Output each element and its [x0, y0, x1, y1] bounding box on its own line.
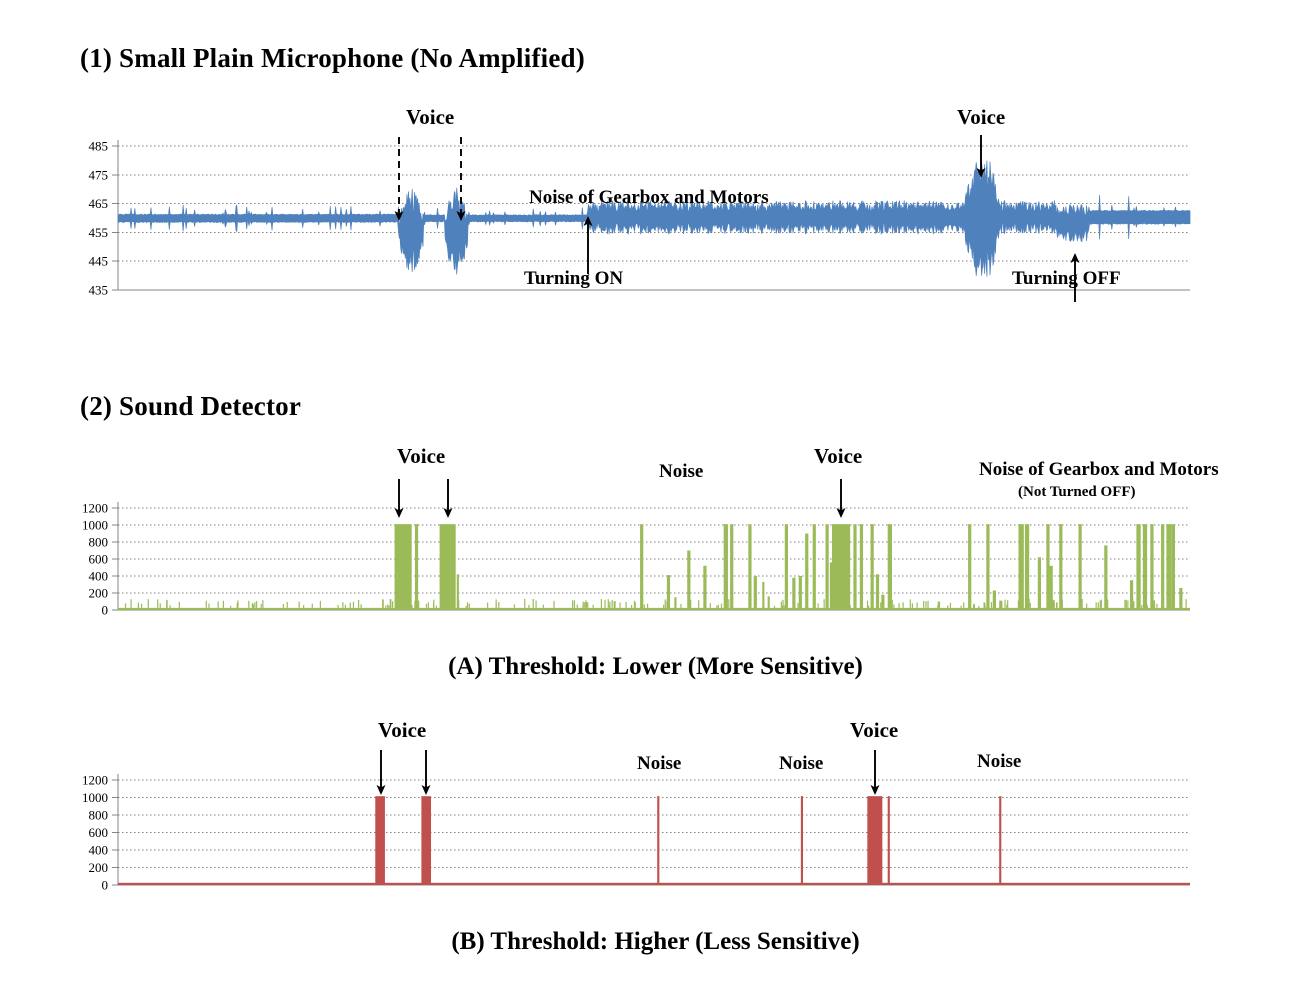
voice-arrow-2 [970, 133, 992, 179]
chart-microphone-block: 485475465455445435 [0, 130, 1311, 330]
caption-threshold-lower: (A) Threshold: Lower (More Sensitive) [0, 653, 1311, 681]
svg-text:445: 445 [89, 254, 109, 269]
voice-arrow-b3 [864, 748, 886, 796]
caption-threshold-higher: (B) Threshold: Higher (Less Sensitive) [0, 928, 1311, 956]
slide-root: (1) Small Plain Microphone (No Amplified… [0, 0, 1311, 984]
svg-text:800: 800 [89, 535, 109, 550]
voice-arrow-a3 [830, 477, 852, 519]
svg-text:1000: 1000 [82, 518, 108, 533]
voice-arrow-a1 [388, 477, 410, 519]
annotation-noise-b1: Noise [637, 753, 681, 775]
svg-text:1000: 1000 [82, 790, 108, 805]
voice-arrow-a2 [437, 477, 459, 519]
turning-off-arrow [1064, 252, 1086, 304]
voice-arrow-b2 [415, 748, 437, 796]
svg-text:600: 600 [89, 825, 109, 840]
annotation-voice-a3: Voice [814, 444, 862, 469]
svg-text:435: 435 [89, 283, 109, 298]
svg-text:465: 465 [89, 196, 109, 211]
svg-text:1200: 1200 [82, 773, 108, 788]
annotation-noise-b2: Noise [779, 753, 823, 775]
turning-on-arrow [577, 215, 599, 276]
voice-arrow-1b [450, 135, 472, 222]
section-title-microphone: (1) Small Plain Microphone (No Amplified… [80, 43, 585, 74]
annotation-voice-1: Voice [406, 105, 454, 130]
annotation-voice-b3: Voice [850, 718, 898, 743]
annotation-noise-b3: Noise [977, 751, 1021, 773]
svg-text:400: 400 [89, 569, 109, 584]
section-title-sound-detector: (2) Sound Detector [80, 391, 301, 422]
svg-text:200: 200 [89, 860, 109, 875]
svg-text:0: 0 [102, 603, 109, 618]
svg-text:455: 455 [89, 225, 109, 240]
annotation-gearbox-noise-1: Noise of Gearbox and Motors [529, 187, 769, 209]
voice-arrow-b1 [370, 748, 392, 796]
svg-text:800: 800 [89, 808, 109, 823]
svg-text:485: 485 [89, 139, 109, 154]
annotation-not-turned-off: (Not Turned OFF) [1018, 484, 1136, 501]
voice-arrow-1a [388, 135, 410, 222]
svg-text:475: 475 [89, 167, 109, 182]
microphone-waveform-chart: 485475465455445435 [0, 130, 1311, 330]
svg-text:600: 600 [89, 552, 109, 567]
annotation-gearbox-noise-2: Noise of Gearbox and Motors [979, 459, 1219, 481]
annotation-turning-on: Turning ON [524, 268, 623, 290]
annotation-voice-b1: Voice [378, 718, 426, 743]
annotation-noise-a: Noise [659, 461, 703, 483]
annotation-voice-a1: Voice [397, 444, 445, 469]
svg-text:0: 0 [102, 878, 109, 893]
svg-text:200: 200 [89, 586, 109, 601]
annotation-voice-2: Voice [957, 105, 1005, 130]
svg-text:400: 400 [89, 843, 109, 858]
svg-text:1200: 1200 [82, 501, 108, 516]
